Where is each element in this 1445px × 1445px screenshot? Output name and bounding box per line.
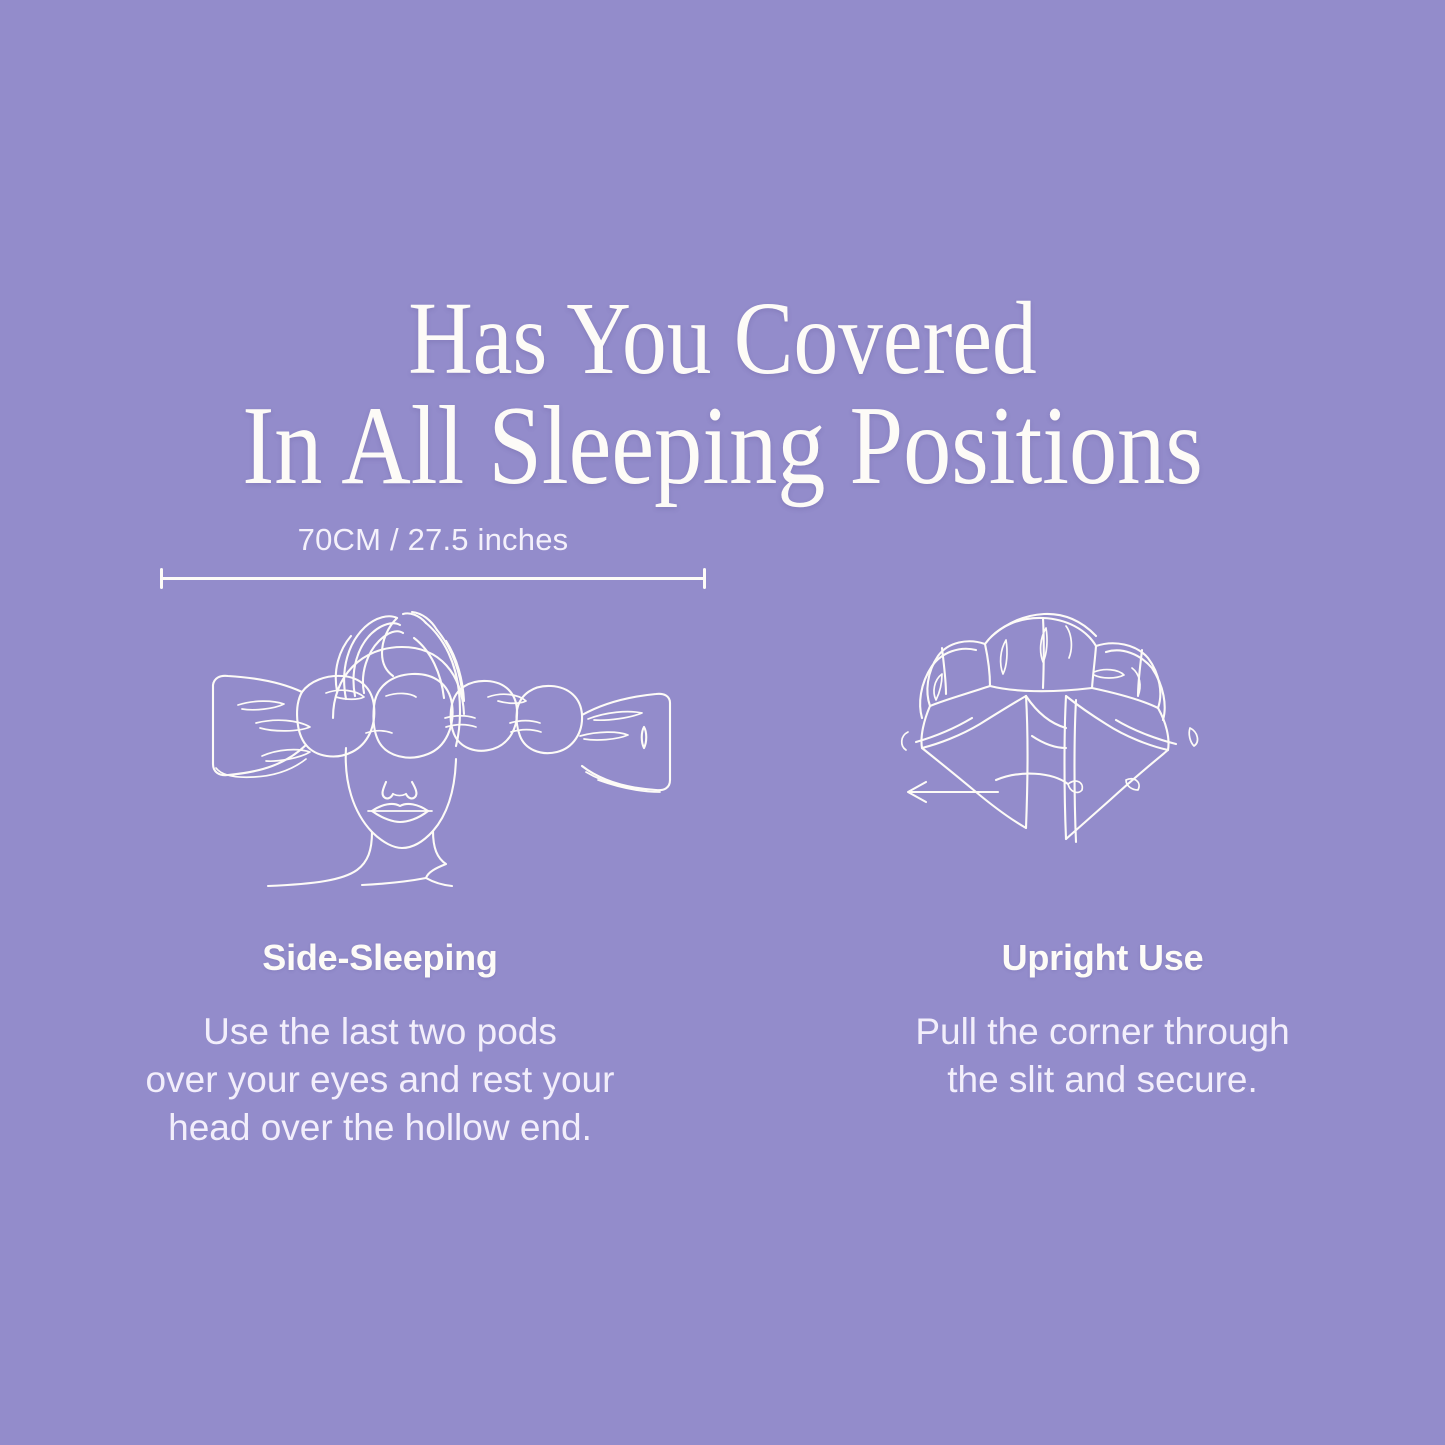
headline-line-1: Has You Covered — [101, 288, 1344, 390]
caption-body-line: head over the hollow end. — [50, 1104, 710, 1152]
illustration-row — [0, 596, 1445, 896]
caption-column-side-sleeping: Side-Sleeping Use the last two pods over… — [0, 938, 760, 1152]
caption-body-line: the slit and secure. — [800, 1056, 1405, 1104]
caption-title-upright-use: Upright Use — [800, 938, 1405, 978]
woman-wearing-pod-sleep-mask-icon — [150, 596, 720, 896]
headline-line-2: In All Sleeping Positions — [101, 392, 1344, 502]
caption-body-line: Pull the corner through — [800, 1008, 1405, 1056]
infographic-canvas: Has You Covered In All Sleeping Position… — [0, 0, 1445, 1445]
caption-body-line: Use the last two pods — [50, 1008, 710, 1056]
caption-row: Side-Sleeping Use the last two pods over… — [0, 938, 1445, 1152]
caption-body-line: over your eyes and rest your — [50, 1056, 710, 1104]
dimension-line — [160, 567, 706, 589]
caption-body-side-sleeping: Use the last two pods over your eyes and… — [50, 1008, 710, 1152]
caption-title-side-sleeping: Side-Sleeping — [50, 938, 710, 978]
illustration-side-sleeping — [150, 596, 720, 896]
dimension-bar — [160, 577, 706, 580]
mask-arched-upright-icon — [880, 596, 1220, 876]
dimension-label: 70CM / 27.5 inches — [160, 524, 706, 567]
illustration-upright-use — [880, 596, 1220, 876]
caption-column-upright-use: Upright Use Pull the corner through the … — [760, 938, 1445, 1152]
dimension-annotation: 70CM / 27.5 inches — [160, 524, 706, 589]
page-title: Has You Covered In All Sleeping Position… — [101, 288, 1344, 502]
caption-body-upright-use: Pull the corner through the slit and sec… — [800, 1008, 1405, 1104]
dimension-end-tick-right — [703, 568, 706, 589]
